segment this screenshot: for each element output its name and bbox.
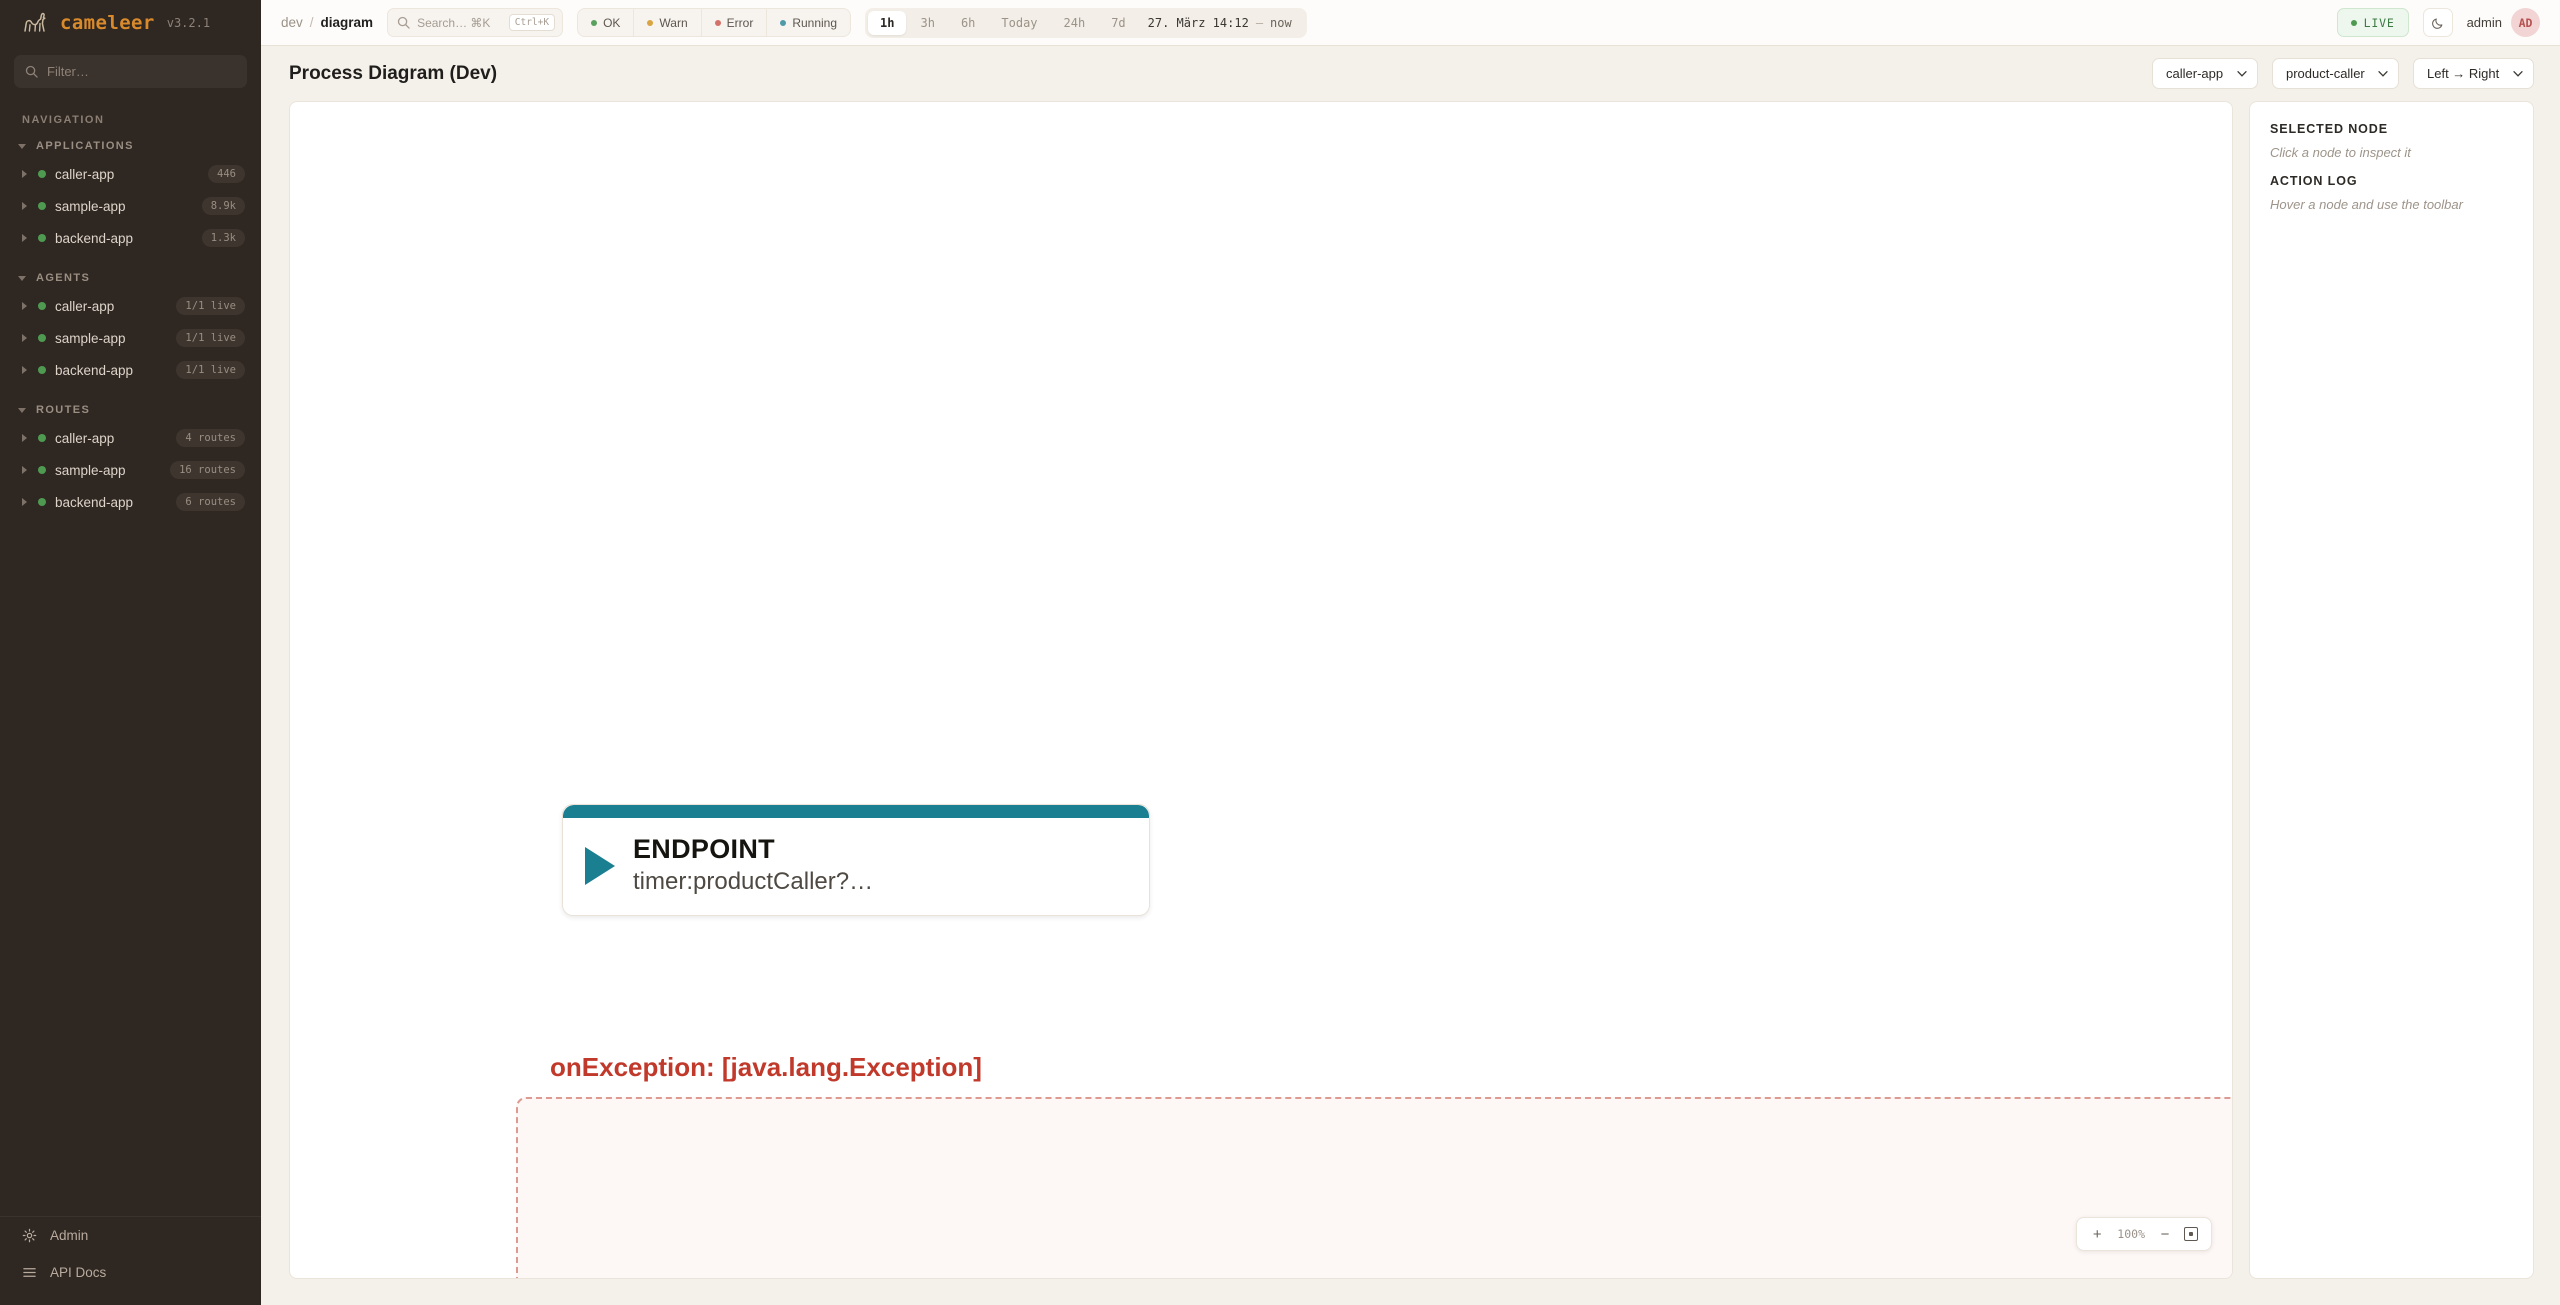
time-window-dash: — xyxy=(1256,16,1263,30)
node-body: ENDPOINT timer:productCaller?… xyxy=(563,818,1149,915)
time-window-from: 27. März 14:12 xyxy=(1148,16,1249,30)
user-name: admin xyxy=(2467,15,2502,30)
chevron-right-icon xyxy=(22,498,29,506)
sidebar-nav: NAVIGATION APPLICATIONS caller-app 446 s… xyxy=(0,88,261,1216)
group-applications-header[interactable]: APPLICATIONS xyxy=(0,136,261,158)
item-badge: 16 routes xyxy=(170,461,245,479)
status-filter-warn[interactable]: Warn xyxy=(634,9,701,36)
route-select-wrap: product-caller xyxy=(2272,58,2399,89)
group-title: AGENTS xyxy=(36,272,90,284)
chevron-down-icon xyxy=(18,408,26,413)
status-dot xyxy=(38,234,46,242)
main-area: dev / diagram Ctrl+K OK Warn Error xyxy=(261,0,2560,1305)
chevron-right-icon xyxy=(22,366,29,374)
page-title: Process Diagram (Dev) xyxy=(289,63,497,85)
exception-label: onException: [java.lang.Exception] xyxy=(550,1052,982,1083)
footer-label: API Docs xyxy=(50,1265,106,1280)
live-badge[interactable]: LIVE xyxy=(2337,8,2409,37)
sidebar-item-routes-sample-app[interactable]: sample-app 16 routes xyxy=(0,454,261,486)
status-filter-ok[interactable]: OK xyxy=(578,9,634,36)
selected-node-empty: Click a node to inspect it xyxy=(2270,145,2513,160)
chevron-down-icon xyxy=(18,276,26,281)
nav-section-title: NAVIGATION xyxy=(0,102,261,136)
node-status-bar xyxy=(563,805,1149,818)
gear-icon xyxy=(22,1228,37,1243)
top-toolbar: dev / diagram Ctrl+K OK Warn Error xyxy=(261,0,2560,46)
brand-version: v3.2.1 xyxy=(167,16,210,30)
direction-select-wrap: Left → Right xyxy=(2413,58,2534,89)
sidebar-item-agents-caller-app[interactable]: caller-app 1/1 live xyxy=(0,290,261,322)
status-dot xyxy=(780,20,786,26)
application-select[interactable]: caller-app xyxy=(2152,58,2258,89)
status-dot xyxy=(2351,20,2357,26)
application-select-wrap: caller-app xyxy=(2152,58,2258,89)
sidebar-item-applications-sample-app[interactable]: sample-app 8.9k xyxy=(0,190,261,222)
group-agents-header[interactable]: AGENTS xyxy=(0,254,261,290)
avatar: AD xyxy=(2511,8,2540,37)
item-badge: 1.3k xyxy=(202,229,245,247)
item-label: sample-app xyxy=(55,463,161,478)
item-badge: 1/1 live xyxy=(176,329,245,347)
search-icon xyxy=(25,65,38,78)
global-search-input[interactable] xyxy=(417,16,502,30)
chevron-down-icon xyxy=(18,144,26,149)
time-window[interactable]: 27. März 14:12 — now xyxy=(1140,16,1304,30)
sidebar-footer-admin[interactable]: Admin xyxy=(0,1217,261,1254)
item-label: caller-app xyxy=(55,431,167,446)
sidebar-item-routes-caller-app[interactable]: caller-app 4 routes xyxy=(0,422,261,454)
status-dot xyxy=(38,498,46,506)
zoom-in-button[interactable]: + xyxy=(2086,1222,2108,1246)
breadcrumb-root[interactable]: dev xyxy=(281,15,303,30)
brand-logo[interactable]: cameleer v3.2.1 xyxy=(0,0,261,46)
status-dot xyxy=(38,334,46,342)
sidebar-item-agents-sample-app[interactable]: sample-app 1/1 live xyxy=(0,322,261,354)
status-filter-running[interactable]: Running xyxy=(767,9,850,36)
item-badge: 1/1 live xyxy=(176,297,245,315)
breadcrumb-separator: / xyxy=(310,15,314,30)
item-badge: 8.9k xyxy=(202,197,245,215)
zoom-level: 100% xyxy=(2112,1227,2150,1241)
route-select[interactable]: product-caller xyxy=(2272,58,2399,89)
time-range-1h[interactable]: 1h xyxy=(868,11,906,35)
sidebar-item-applications-caller-app[interactable]: caller-app 446 xyxy=(0,158,261,190)
item-label: sample-app xyxy=(55,199,193,214)
sidebar-filter-input[interactable] xyxy=(47,64,236,79)
chevron-right-icon xyxy=(22,202,29,210)
status-dot xyxy=(38,302,46,310)
item-label: caller-app xyxy=(55,299,167,314)
node-texts: ENDPOINT timer:productCaller?… xyxy=(633,834,873,897)
time-range-today[interactable]: Today xyxy=(989,11,1049,35)
chevron-right-icon xyxy=(22,234,29,242)
page-header: Process Diagram (Dev) caller-app product… xyxy=(261,46,2560,101)
brand-name: cameleer xyxy=(60,12,155,34)
filter-label: Warn xyxy=(659,16,687,30)
chevron-right-icon xyxy=(22,466,29,474)
chevron-right-icon xyxy=(22,334,29,342)
time-range-7d[interactable]: 7d xyxy=(1099,11,1137,35)
search-icon xyxy=(397,16,410,29)
theme-toggle-button[interactable] xyxy=(2423,8,2453,37)
search-shortcut-hint: Ctrl+K xyxy=(509,14,555,31)
status-dot xyxy=(38,366,46,374)
status-dot xyxy=(38,434,46,442)
zoom-controls: + 100% − xyxy=(2076,1217,2212,1251)
chevron-right-icon xyxy=(22,434,29,442)
item-badge: 4 routes xyxy=(176,429,245,447)
zoom-out-button[interactable]: − xyxy=(2154,1222,2176,1246)
sidebar-item-applications-backend-app[interactable]: backend-app 1.3k xyxy=(0,222,261,254)
time-window-to: now xyxy=(1270,16,1292,30)
status-filter-error[interactable]: Error xyxy=(702,9,768,36)
exception-region xyxy=(516,1097,2233,1279)
fit-screen-button[interactable] xyxy=(2180,1222,2202,1246)
item-label: backend-app xyxy=(55,363,167,378)
chevron-right-icon xyxy=(22,170,29,178)
fit-screen-icon xyxy=(2184,1227,2198,1241)
body-area: ENDPOINT timer:productCaller?… onExcepti… xyxy=(261,101,2560,1305)
moon-icon xyxy=(2431,16,2445,30)
group-title: APPLICATIONS xyxy=(36,140,134,152)
diagram-node-endpoint[interactable]: ENDPOINT timer:productCaller?… xyxy=(562,804,1150,916)
time-range-group: 1h 3h 6h Today 24h 7d 27. März 14:12 — n… xyxy=(865,8,1307,38)
node-kind: ENDPOINT xyxy=(633,834,873,866)
item-badge: 446 xyxy=(208,165,245,183)
status-dot xyxy=(591,20,597,26)
status-filter-group: OK Warn Error Running xyxy=(577,8,851,37)
item-label: caller-app xyxy=(55,167,199,182)
item-label: sample-app xyxy=(55,331,167,346)
play-icon xyxy=(585,847,615,885)
group-routes-header[interactable]: ROUTES xyxy=(0,386,261,422)
filter-label: Running xyxy=(792,16,837,30)
inspector-panel: SELECTED NODE Click a node to inspect it… xyxy=(2249,101,2534,1279)
sidebar-item-agents-backend-app[interactable]: backend-app 1/1 live xyxy=(0,354,261,386)
time-range-24h[interactable]: 24h xyxy=(1052,11,1098,35)
status-dot xyxy=(38,466,46,474)
status-dot xyxy=(715,20,721,26)
node-uri: timer:productCaller?… xyxy=(633,866,873,897)
user-menu[interactable]: admin AD xyxy=(2467,8,2540,37)
filter-label: Error xyxy=(727,16,754,30)
diagram-canvas[interactable]: ENDPOINT timer:productCaller?… onExcepti… xyxy=(289,101,2233,1279)
time-range-3h[interactable]: 3h xyxy=(908,11,946,35)
direction-select[interactable]: Left → Right xyxy=(2413,58,2534,89)
sidebar-footer-api-docs[interactable]: API Docs xyxy=(0,1254,261,1291)
sidebar-filter-wrap xyxy=(0,46,261,88)
chevron-right-icon xyxy=(22,302,29,310)
group-title: ROUTES xyxy=(36,404,90,416)
sidebar-filter[interactable] xyxy=(14,55,247,88)
selected-node-title: SELECTED NODE xyxy=(2270,122,2513,136)
camel-icon xyxy=(22,11,48,35)
status-dot xyxy=(647,20,653,26)
action-log-empty: Hover a node and use the toolbar xyxy=(2270,197,2513,212)
time-range-6h[interactable]: 6h xyxy=(949,11,987,35)
item-label: backend-app xyxy=(55,495,167,510)
breadcrumb-current: diagram xyxy=(321,15,374,30)
footer-label: Admin xyxy=(50,1228,88,1243)
item-label: backend-app xyxy=(55,231,193,246)
sidebar-footer: Admin API Docs xyxy=(0,1216,261,1305)
status-dot xyxy=(38,170,46,178)
status-dot xyxy=(38,202,46,210)
action-log-title: ACTION LOG xyxy=(2270,174,2513,188)
sidebar: cameleer v3.2.1 NAVIGATION APPLICATIONS … xyxy=(0,0,261,1305)
sidebar-item-routes-backend-app[interactable]: backend-app 6 routes xyxy=(0,486,261,518)
live-label: LIVE xyxy=(2364,16,2395,30)
list-icon xyxy=(22,1265,37,1280)
breadcrumb: dev / diagram xyxy=(281,15,373,30)
item-badge: 1/1 live xyxy=(176,361,245,379)
global-search[interactable]: Ctrl+K xyxy=(387,8,563,37)
filter-label: OK xyxy=(603,16,620,30)
item-badge: 6 routes xyxy=(176,493,245,511)
